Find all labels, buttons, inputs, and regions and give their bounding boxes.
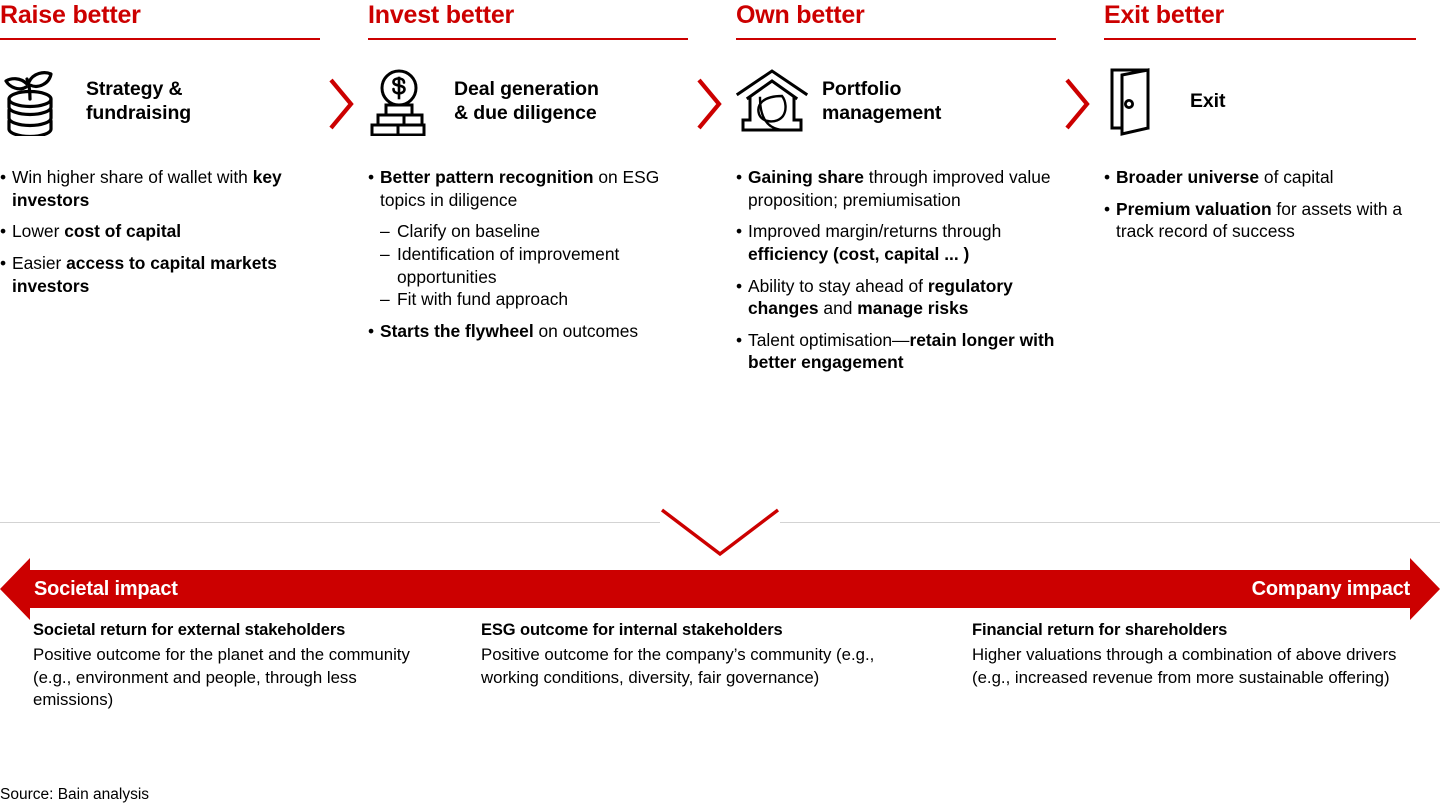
chevron-right-icon-3 — [1062, 78, 1092, 130]
bullet-glyph: • — [736, 329, 748, 374]
column-icon-row: Deal generation & due diligence — [368, 66, 688, 138]
column-title-line1: Portfolio — [822, 78, 901, 100]
impact-block-societal: Societal return for external stakeholder… — [0, 620, 470, 711]
impact-block-esg: ESG outcome for internal stakeholders Po… — [470, 620, 960, 711]
bullet-list-invest-better: • Better pattern recognition on ESG topi… — [368, 166, 688, 342]
bullet-item: • Talent optimisation—retain longer with… — [736, 329, 1056, 374]
sub-bullet-text: Fit with fund approach — [397, 288, 688, 311]
sub-bullet-text: Identification of improvement opportunit… — [397, 243, 688, 288]
bullet-glyph: • — [368, 166, 380, 211]
bullet-glyph: • — [0, 166, 12, 211]
bullet-item: • Better pattern recognition on ESG topi… — [368, 166, 688, 211]
bullet-item: • Improved margin/returns through effici… — [736, 220, 1056, 265]
impact-block-body: Positive outcome for the company’s commu… — [481, 644, 930, 689]
bullet-text: Win higher share of wallet with key inve… — [12, 166, 320, 211]
pillar-column-invest-better: Invest better Deal gene — [368, 0, 736, 383]
sub-bullet-item: – Clarify on baseline — [380, 220, 688, 243]
impact-block-title: Financial return for shareholders — [972, 620, 1410, 641]
sub-bullet-item: – Identification of improvement opportun… — [380, 243, 688, 288]
pillar-column-raise-better: Raise better Strategy & fu — [0, 0, 368, 383]
column-title-line1: Strategy & — [86, 78, 183, 100]
column-header-raise-better: Raise better — [0, 0, 320, 28]
bullet-glyph: • — [736, 220, 748, 265]
coin-on-bricks-icon — [368, 68, 444, 136]
house-with-leaf-icon — [736, 68, 812, 136]
column-header-invest-better: Invest better — [368, 0, 688, 28]
bullet-glyph: • — [0, 252, 12, 297]
bullet-glyph: • — [1104, 166, 1116, 189]
column-header-rule — [1104, 38, 1416, 40]
source-note: Source: Bain analysis — [0, 786, 149, 805]
divider-line-left — [0, 522, 660, 523]
column-title-own-better: Portfolio management — [812, 78, 941, 126]
impact-spectrum-arrow — [0, 558, 1440, 620]
bullet-glyph: • — [1104, 198, 1116, 243]
column-header-rule — [368, 38, 688, 40]
bullet-text: Gaining share through improved value pro… — [748, 166, 1056, 211]
sub-bullet-text: Clarify on baseline — [397, 220, 688, 243]
dash-glyph: – — [380, 220, 397, 243]
column-title-line1: Deal generation — [454, 78, 599, 100]
column-title-line2: & due diligence — [454, 102, 597, 124]
impact-block-financial: Financial return for shareholders Higher… — [960, 620, 1440, 711]
impact-label-company: Company impact — [1252, 578, 1410, 601]
bullet-item: • Gaining share through improved value p… — [736, 166, 1056, 211]
bullet-text: Better pattern recognition on ESG topics… — [380, 166, 688, 211]
impact-label-societal: Societal impact — [34, 578, 178, 601]
divider-line-right — [780, 522, 1440, 523]
bullet-list-exit-better: • Broader universe of capital • Premium … — [1104, 166, 1416, 243]
coins-with-sprout-icon — [0, 68, 76, 136]
bullet-glyph: • — [736, 275, 748, 320]
impact-block-body: Positive outcome for the planet and the … — [33, 644, 440, 711]
pillar-columns: Raise better Strategy & fu — [0, 0, 1440, 383]
bullet-text: Talent optimisation—retain longer with b… — [748, 329, 1056, 374]
bullet-text: Ability to stay ahead of regulatory chan… — [748, 275, 1056, 320]
bullet-item: • Win higher share of wallet with key in… — [0, 166, 320, 211]
bullet-text: Lower cost of capital — [12, 220, 320, 243]
slide-canvas: Raise better Strategy & fu — [0, 0, 1440, 810]
dash-glyph: – — [380, 288, 397, 311]
bullet-text: Premium valuation for assets with a trac… — [1116, 198, 1416, 243]
column-title-line1: Exit — [1190, 90, 1225, 112]
chevron-down-icon — [660, 500, 780, 560]
chevron-right-icon-2 — [694, 78, 724, 130]
dash-glyph: – — [380, 243, 397, 288]
column-header-exit-better: Exit better — [1104, 0, 1416, 28]
bullet-list-raise-better: • Win higher share of wallet with key in… — [0, 166, 320, 297]
column-title-raise-better: Strategy & fundraising — [76, 78, 191, 126]
bullet-text: Easier access to capital markets investo… — [12, 252, 320, 297]
column-header-rule — [736, 38, 1056, 40]
bullet-item: • Easier access to capital markets inves… — [0, 252, 320, 297]
bullet-glyph: • — [0, 220, 12, 243]
column-header-rule — [0, 38, 320, 40]
column-title-line2: management — [822, 102, 941, 124]
column-title-invest-better: Deal generation & due diligence — [444, 78, 599, 126]
impact-block-body: Higher valuations through a combination … — [972, 644, 1410, 689]
bullet-text: Starts the flywheel on outcomes — [380, 320, 688, 343]
bullet-item: • Lower cost of capital — [0, 220, 320, 243]
impact-block-title: Societal return for external stakeholder… — [33, 620, 440, 641]
column-header-own-better: Own better — [736, 0, 1056, 28]
column-icon-row: Strategy & fundraising — [0, 66, 320, 138]
open-door-icon — [1104, 68, 1180, 136]
bullet-list-own-better: • Gaining share through improved value p… — [736, 166, 1056, 374]
sub-bullet-item: – Fit with fund approach — [380, 288, 688, 311]
bullet-glyph: • — [368, 320, 380, 343]
chevron-right-icon-1 — [326, 78, 356, 130]
column-icon-row: Exit — [1104, 66, 1416, 138]
bullet-text: Broader universe of capital — [1116, 166, 1416, 189]
sub-bullet-list: – Clarify on baseline – Identification o… — [380, 220, 688, 311]
bullet-item: • Ability to stay ahead of regulatory ch… — [736, 275, 1056, 320]
impact-description-row: Societal return for external stakeholder… — [0, 620, 1440, 711]
pillar-column-exit-better: Exit better Exit • Broader universe — [1104, 0, 1440, 383]
impact-block-title: ESG outcome for internal stakeholders — [481, 620, 930, 641]
bullet-item: • Premium valuation for assets with a tr… — [1104, 198, 1416, 243]
pillar-column-own-better: Own better Portfolio management — [736, 0, 1104, 383]
column-title-exit-better: Exit — [1180, 90, 1225, 114]
bullet-glyph: • — [736, 166, 748, 211]
column-icon-row: Portfolio management — [736, 66, 1056, 138]
bullet-item: • Broader universe of capital — [1104, 166, 1416, 189]
bullet-text: Improved margin/returns through efficien… — [748, 220, 1056, 265]
column-title-line2: fundraising — [86, 102, 191, 124]
bullet-item: • Starts the flywheel on outcomes — [368, 320, 688, 343]
